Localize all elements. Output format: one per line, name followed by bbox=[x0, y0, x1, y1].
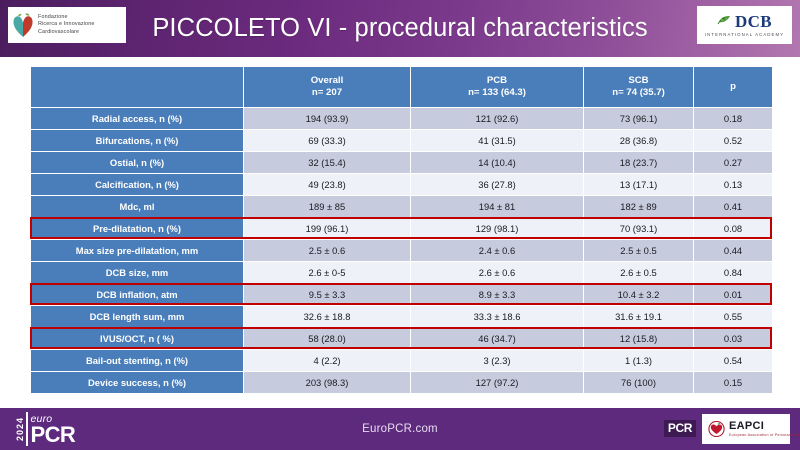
row-label: DCB size, mm bbox=[31, 262, 244, 284]
cell-scb: 70 (93.1) bbox=[584, 218, 694, 240]
column-header-pcb-label: PCB bbox=[411, 75, 583, 87]
cell-p: 0.84 bbox=[694, 262, 773, 284]
cell-overall: 32 (15.4) bbox=[244, 152, 411, 174]
row-label: Ostial, n (%) bbox=[31, 152, 244, 174]
row-label: Radial access, n (%) bbox=[31, 108, 244, 130]
procedural-characteristics-table: Overall n= 207 PCB n= 133 (64.3) SCB n= … bbox=[30, 66, 773, 394]
cell-scb: 28 (36.8) bbox=[584, 130, 694, 152]
cell-overall: 2.6 ± 0-5 bbox=[244, 262, 411, 284]
column-header-pcb-n: n= 133 (64.3) bbox=[411, 87, 583, 99]
cell-p: 0.44 bbox=[694, 240, 773, 262]
cell-p: 0.13 bbox=[694, 174, 773, 196]
cell-scb: 2.5 ± 0.5 bbox=[584, 240, 694, 262]
cell-pcb: 36 (27.8) bbox=[411, 174, 584, 196]
cell-pcb: 127 (97.2) bbox=[411, 372, 584, 394]
cell-p: 0.27 bbox=[694, 152, 773, 174]
cell-pcb: 2.4 ± 0.6 bbox=[411, 240, 584, 262]
row-label: Max size pre-dilatation, mm bbox=[31, 240, 244, 262]
fondazione-line-3: Cardiovascolare bbox=[38, 29, 95, 37]
column-header-overall: Overall n= 207 bbox=[244, 67, 411, 108]
eapci-heart-icon bbox=[708, 421, 725, 437]
table-row: Ostial, n (%)32 (15.4)14 (10.4)18 (23.7)… bbox=[31, 152, 773, 174]
cell-overall: 9.5 ± 3.3 bbox=[244, 284, 411, 306]
pcr-badge: PCR bbox=[664, 420, 696, 437]
cell-scb: 18 (23.7) bbox=[584, 152, 694, 174]
table-row: Pre-dilatation, n (%)199 (96.1)129 (98.1… bbox=[31, 218, 773, 240]
table-row: Bifurcations, n (%)69 (33.3)41 (31.5)28 … bbox=[31, 130, 773, 152]
cell-overall: 49 (23.8) bbox=[244, 174, 411, 196]
column-header-scb-n: n= 74 (35.7) bbox=[584, 87, 693, 99]
cell-p: 0.15 bbox=[694, 372, 773, 394]
dcb-subtitle: INTERNATIONAL ACADEMY bbox=[705, 32, 784, 37]
table-row: Device success, n (%)203 (98.3)127 (97.2… bbox=[31, 372, 773, 394]
cell-pcb: 2.6 ± 0.6 bbox=[411, 262, 584, 284]
row-label: DCB inflation, atm bbox=[31, 284, 244, 306]
table-header: Overall n= 207 PCB n= 133 (64.3) SCB n= … bbox=[31, 67, 773, 108]
cell-p: 0.08 bbox=[694, 218, 773, 240]
eapci-logo: EAPCI European Association of Percutaneo… bbox=[702, 414, 790, 444]
column-header-pcb: PCB n= 133 (64.3) bbox=[411, 67, 584, 108]
procedural-characteristics-table-wrap: Overall n= 207 PCB n= 133 (64.3) SCB n= … bbox=[30, 66, 772, 394]
fondazione-logo-text: Fondazione Ricerca e Innovazione Cardiov… bbox=[38, 14, 95, 37]
leaf-icon bbox=[717, 13, 733, 31]
fondazione-line-1: Fondazione bbox=[38, 14, 95, 22]
row-label: Bifurcations, n (%) bbox=[31, 130, 244, 152]
row-label: Mdc, ml bbox=[31, 196, 244, 218]
table-row: Bail-out stenting, n (%)4 (2.2)3 (2.3)1 … bbox=[31, 350, 773, 372]
cell-scb: 12 (15.8) bbox=[584, 328, 694, 350]
table-row: Max size pre-dilatation, mm2.5 ± 0.62.4 … bbox=[31, 240, 773, 262]
table-header-row: Overall n= 207 PCB n= 133 (64.3) SCB n= … bbox=[31, 67, 773, 108]
table-row: IVUS/OCT, n ( %)58 (28.0)46 (34.7)12 (15… bbox=[31, 328, 773, 350]
row-label: IVUS/OCT, n ( %) bbox=[31, 328, 244, 350]
table-row: DCB size, mm2.6 ± 0-52.6 ± 0.62.6 ± 0.50… bbox=[31, 262, 773, 284]
cell-p: 0.41 bbox=[694, 196, 773, 218]
row-label: DCB length sum, mm bbox=[31, 306, 244, 328]
table-row: DCB inflation, atm9.5 ± 3.38.9 ± 3.310.4… bbox=[31, 284, 773, 306]
cell-overall: 199 (96.1) bbox=[244, 218, 411, 240]
table-body: Radial access, n (%)194 (93.9)121 (92.6)… bbox=[31, 108, 773, 394]
cell-p: 0.18 bbox=[694, 108, 773, 130]
cell-scb: 2.6 ± 0.5 bbox=[584, 262, 694, 284]
row-label: Calcification, n (%) bbox=[31, 174, 244, 196]
row-label: Device success, n (%) bbox=[31, 372, 244, 394]
table-row: Mdc, ml189 ± 85194 ± 81182 ± 890.41 bbox=[31, 196, 773, 218]
cell-pcb: 194 ± 81 bbox=[411, 196, 584, 218]
cell-scb: 13 (17.1) bbox=[584, 174, 694, 196]
cell-scb: 10.4 ± 3.2 bbox=[584, 284, 694, 306]
cell-scb: 76 (100) bbox=[584, 372, 694, 394]
dcb-acronym: DCB bbox=[735, 13, 772, 31]
cell-scb: 73 (96.1) bbox=[584, 108, 694, 130]
cell-scb: 1 (1.3) bbox=[584, 350, 694, 372]
column-header-overall-label: Overall bbox=[244, 75, 410, 87]
cell-pcb: 121 (92.6) bbox=[411, 108, 584, 130]
cell-scb: 31.6 ± 19.1 bbox=[584, 306, 694, 328]
cell-pcb: 46 (34.7) bbox=[411, 328, 584, 350]
cell-p: 0.01 bbox=[694, 284, 773, 306]
cell-pcb: 8.9 ± 3.3 bbox=[411, 284, 584, 306]
heart-icon bbox=[12, 12, 34, 38]
cell-overall: 32.6 ± 18.8 bbox=[244, 306, 411, 328]
cell-overall: 189 ± 85 bbox=[244, 196, 411, 218]
cell-overall: 69 (33.3) bbox=[244, 130, 411, 152]
dcb-academy-logo: DCB INTERNATIONAL ACADEMY bbox=[697, 6, 792, 44]
table-row: Calcification, n (%)49 (23.8)36 (27.8)13… bbox=[31, 174, 773, 196]
column-header-overall-n: n= 207 bbox=[244, 87, 410, 99]
row-label: Bail-out stenting, n (%) bbox=[31, 350, 244, 372]
cell-pcb: 3 (2.3) bbox=[411, 350, 584, 372]
eapci-subtitle: European Association of Percutaneous Car… bbox=[729, 434, 800, 438]
column-header-p-label: p bbox=[694, 81, 772, 93]
slide-header: PICCOLETO VI - procedural characteristic… bbox=[0, 0, 800, 57]
column-header-scb: SCB n= 74 (35.7) bbox=[584, 67, 694, 108]
cell-pcb: 129 (98.1) bbox=[411, 218, 584, 240]
column-header-blank bbox=[31, 67, 244, 108]
column-header-p: p bbox=[694, 67, 773, 108]
fondazione-logo: Fondazione Ricerca e Innovazione Cardiov… bbox=[8, 7, 126, 43]
cell-overall: 194 (93.9) bbox=[244, 108, 411, 130]
table-row: Radial access, n (%)194 (93.9)121 (92.6)… bbox=[31, 108, 773, 130]
fondazione-line-2: Ricerca e Innovazione bbox=[38, 21, 95, 29]
cell-scb: 182 ± 89 bbox=[584, 196, 694, 218]
cell-p: 0.54 bbox=[694, 350, 773, 372]
cell-overall: 4 (2.2) bbox=[244, 350, 411, 372]
cell-overall: 58 (28.0) bbox=[244, 328, 411, 350]
cell-overall: 2.5 ± 0.6 bbox=[244, 240, 411, 262]
cell-p: 0.52 bbox=[694, 130, 773, 152]
column-header-scb-label: SCB bbox=[584, 75, 693, 87]
cell-pcb: 33.3 ± 18.6 bbox=[411, 306, 584, 328]
cell-pcb: 41 (31.5) bbox=[411, 130, 584, 152]
table-row: DCB length sum, mm32.6 ± 18.833.3 ± 18.6… bbox=[31, 306, 773, 328]
cell-pcb: 14 (10.4) bbox=[411, 152, 584, 174]
slide-footer: 2024 euro PCR EuroPCR.com PCR EAPCI Euro… bbox=[0, 408, 800, 450]
cell-p: 0.03 bbox=[694, 328, 773, 350]
eapci-name: EAPCI bbox=[729, 421, 800, 432]
cell-overall: 203 (98.3) bbox=[244, 372, 411, 394]
row-label: Pre-dilatation, n (%) bbox=[31, 218, 244, 240]
cell-p: 0.55 bbox=[694, 306, 773, 328]
